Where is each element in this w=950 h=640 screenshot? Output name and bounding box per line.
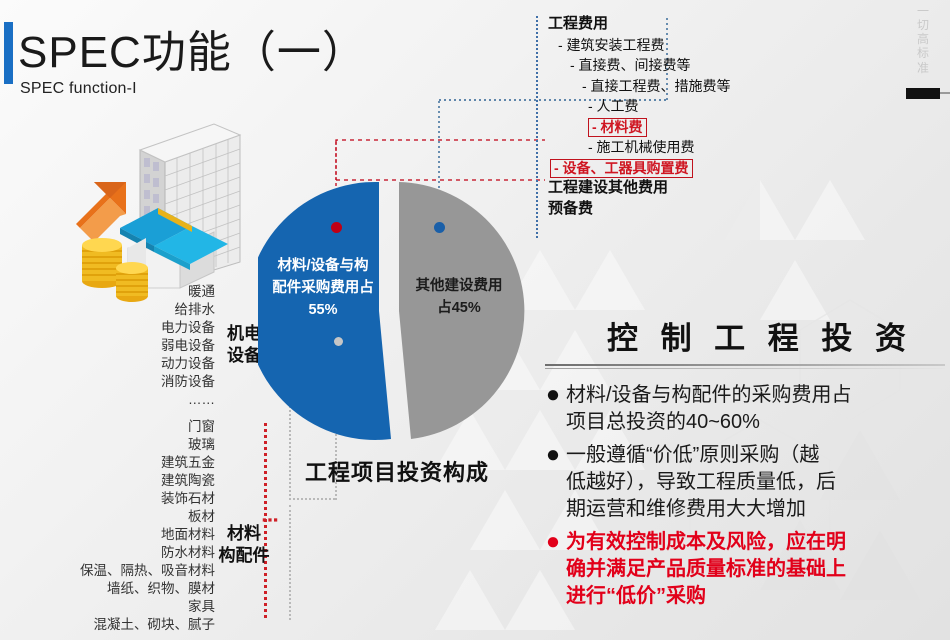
- bullet-line: 确并满足产品质量标准的基础上: [566, 556, 948, 583]
- watermark-char: 切: [910, 18, 936, 32]
- bullet-dot-icon: ●: [540, 529, 566, 610]
- bullet-line: 期运营和维修费用大大增加: [566, 496, 948, 523]
- cost-line: - 建筑安装工程费: [548, 35, 878, 56]
- list-item: 保温、隔热、吸音材料: [10, 562, 215, 580]
- corner-watermark: 一 切 高 标 准: [910, 4, 936, 75]
- cost-line-highlighted: - 设备、工器具购置费: [548, 158, 878, 179]
- list-item: 门窗: [10, 418, 215, 436]
- cost-line: - 人工费: [548, 96, 878, 117]
- list-item: 家具: [10, 598, 215, 616]
- list-item: 地面材料: [10, 526, 215, 544]
- cost-line: 预备费: [548, 199, 878, 220]
- list-item: 暖通: [40, 283, 215, 301]
- heading-divider: [545, 364, 945, 370]
- pie-connector-dot-red: [331, 222, 342, 233]
- list-item: 给排水: [40, 301, 215, 319]
- chart-caption: 工程项目投资构成: [305, 455, 489, 487]
- bullet-item-emphasis: ● 为有效控制成本及风险，应在明 确并满足产品质量标准的基础上 进行“低价”采购: [540, 529, 948, 610]
- list-item: 装饰石材: [10, 490, 215, 508]
- pie-label-line: 材料/设备与构: [263, 255, 383, 277]
- cost-line-box-equipment: - 设备、工器具购置费: [550, 159, 693, 178]
- watermark-char: 一: [910, 4, 936, 18]
- right-panel-bullets: ● 材料/设备与构配件的采购费用占 项目总投资的40~60% ● 一般遵循“价低…: [540, 382, 948, 616]
- list-item: 玻璃: [10, 436, 215, 454]
- cost-breakdown-block: 工程费用 - 建筑安装工程费 - 直接费、间接费等 - 直接工程费、措施费等 -…: [548, 14, 878, 219]
- page-subtitle: SPEC function-I: [20, 80, 137, 98]
- page-title: SPEC功能（一）: [18, 16, 367, 80]
- list-item: 消防设备: [40, 373, 215, 391]
- watermark-char: 标: [910, 46, 936, 60]
- gray-connector-lower: [289, 505, 291, 620]
- list-item: 混凝土、砌块、腻子: [10, 616, 215, 634]
- pie-value-blue: 55%: [263, 299, 383, 321]
- cost-line: - 施工机械使用费: [548, 137, 878, 158]
- slide-canvas: SPEC功能（一） SPEC function-I 一 切 高 标 准: [0, 0, 950, 640]
- cost-line: 工程费用: [548, 14, 878, 35]
- group-label-line: 构配件: [206, 545, 282, 567]
- pie-connector-dot-gray: [334, 337, 343, 346]
- list-item: 动力设备: [40, 355, 215, 373]
- cost-line-highlighted: - 材料费: [548, 117, 878, 138]
- corner-marker-bar: [906, 88, 940, 99]
- bullet-line: 项目总投资的40~60%: [566, 409, 948, 436]
- watermark-char: 准: [910, 61, 936, 75]
- pie-value-gray: 占45%: [400, 297, 518, 319]
- list-item: 弱电设备: [40, 337, 215, 355]
- right-panel-heading: 控 制 工 程 投 资: [575, 313, 945, 358]
- pie-connector-dot-blue: [434, 222, 445, 233]
- bullet-line: 一般遵循“价低”原则采购（越: [566, 442, 948, 469]
- pie-label-gray: 其他建设费用 占45%: [400, 275, 518, 319]
- list-item: 防水材料: [10, 544, 215, 562]
- list-item: 建筑陶瓷: [10, 472, 215, 490]
- bullet-text: 一般遵循“价低”原则采购（越 低越好），导致工程质量低，后 期运营和维修费用大大…: [566, 442, 948, 523]
- pie-label-blue: 材料/设备与构 配件采购费用占 55%: [263, 255, 383, 321]
- orange-arrow-icon: [76, 182, 126, 242]
- group-label-line: 材料: [206, 523, 282, 545]
- cost-line: - 直接费、间接费等: [548, 55, 878, 76]
- group-label-materials: 材料 构配件: [206, 523, 282, 567]
- bullet-item: ● 一般遵循“价低”原则采购（越 低越好），导致工程质量低，后 期运营和维修费用…: [540, 442, 948, 523]
- bullet-line: 为有效控制成本及风险，应在明: [566, 529, 948, 556]
- cost-block-guide-line: [536, 16, 538, 238]
- list-item: 板材: [10, 508, 215, 526]
- bullet-item: ● 材料/设备与构配件的采购费用占 项目总投资的40~60%: [540, 382, 948, 436]
- cost-line: - 直接工程费、措施费等: [548, 76, 878, 97]
- category-list-mep: 暖通 给排水 电力设备 弱电设备 动力设备 消防设备 ……: [40, 283, 215, 409]
- list-item: 电力设备: [40, 319, 215, 337]
- bullet-dot-icon: ●: [540, 382, 566, 436]
- cost-line: 工程建设其他费用: [548, 178, 878, 199]
- bullet-text: 材料/设备与构配件的采购费用占 项目总投资的40~60%: [566, 382, 948, 436]
- list-item: 建筑五金: [10, 454, 215, 472]
- gray-connector-horizontal: [289, 498, 335, 500]
- bullet-dot-icon: ●: [540, 442, 566, 523]
- cost-line-box-material: - 材料费: [588, 118, 647, 137]
- list-item: 墙纸、织物、膜材: [10, 580, 215, 598]
- pie-label-line: 配件采购费用占: [263, 277, 383, 299]
- category-list-materials: 门窗 玻璃 建筑五金 建筑陶瓷 装饰石材 板材 地面材料 防水材料 保温、隔热、…: [10, 418, 215, 634]
- watermark-char: 高: [910, 32, 936, 46]
- list-item: ……: [40, 391, 215, 409]
- title-accent-bar: [4, 22, 13, 84]
- bullet-line: 进行“低价”采购: [566, 583, 948, 610]
- bullet-line: 低越好），导致工程质量低，后: [566, 469, 948, 496]
- bullet-line: 材料/设备与构配件的采购费用占: [566, 382, 948, 409]
- bullet-text: 为有效控制成本及风险，应在明 确并满足产品质量标准的基础上 进行“低价”采购: [566, 529, 948, 610]
- pie-label-line: 其他建设费用: [400, 275, 518, 297]
